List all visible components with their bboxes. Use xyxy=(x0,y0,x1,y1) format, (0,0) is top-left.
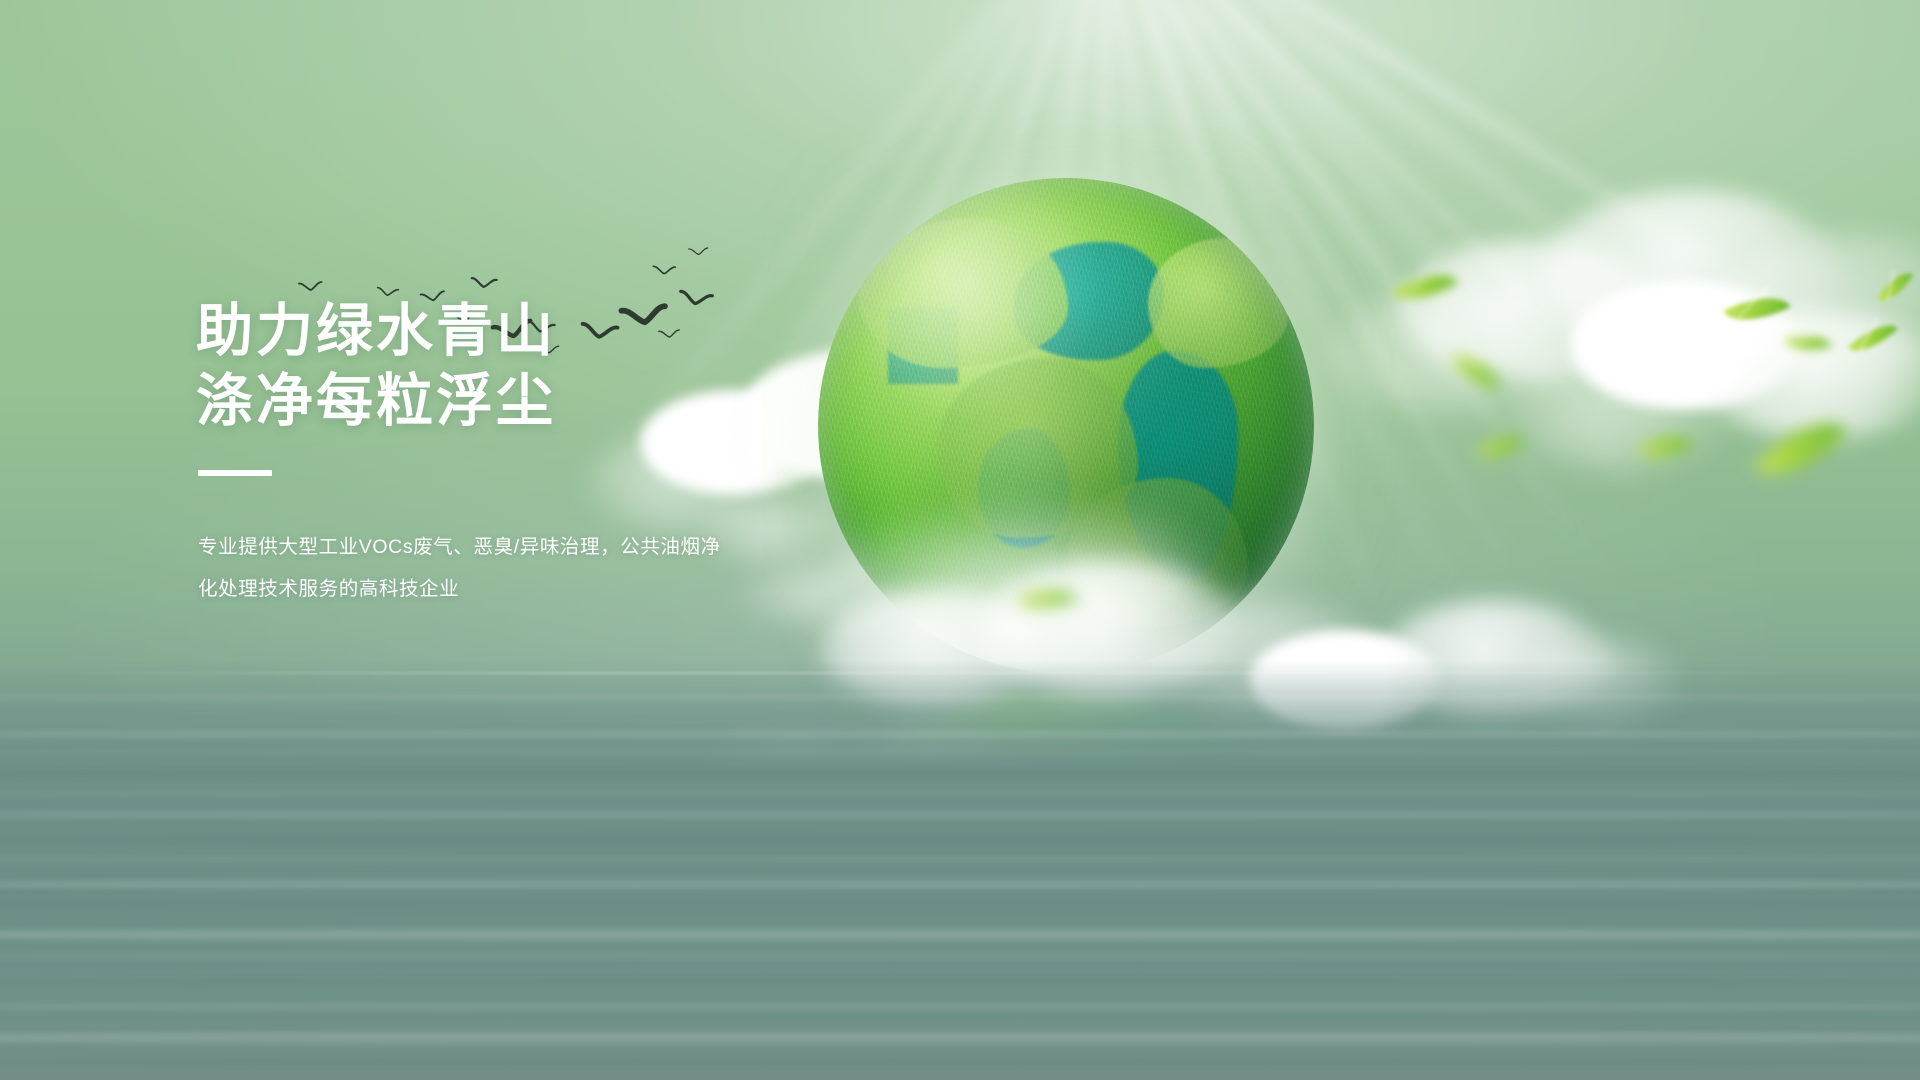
subtitle-line-1: 专业提供大型工业VOCs废气、恶臭/异味治理，公共油烟净 xyxy=(198,526,738,568)
water-ripple xyxy=(0,790,1920,796)
water-ripple xyxy=(0,730,1920,739)
water-horizon-line xyxy=(0,672,1920,674)
water-surface xyxy=(0,660,1920,1080)
bird-icon xyxy=(470,276,499,292)
water-ripple xyxy=(0,976,1920,990)
globe-base-mist xyxy=(818,466,1314,674)
water-ripple xyxy=(0,856,1920,863)
water-ripple xyxy=(0,832,1920,848)
water-ripple xyxy=(0,712,1920,716)
bird-icon xyxy=(652,265,677,279)
water-ripple xyxy=(0,878,1920,891)
hero-subtitle: 专业提供大型工业VOCs废气、恶臭/异味治理，公共油烟净 化处理技术服务的高科技… xyxy=(198,526,738,610)
bird-icon xyxy=(688,246,710,258)
water-ripple xyxy=(0,926,1920,944)
subtitle-line-2: 化处理技术服务的高科技企业 xyxy=(198,568,738,610)
water-ripple xyxy=(0,810,1920,820)
water-ripple xyxy=(0,750,1920,755)
bird-icon xyxy=(298,280,324,295)
water-ripple xyxy=(0,902,1920,911)
water-ripple xyxy=(0,1028,1920,1048)
headline-line-2: 涤净每粒浮尘 xyxy=(196,366,836,436)
water-ripple xyxy=(0,694,1920,700)
headline-divider xyxy=(198,470,272,476)
hero-copy: 助力绿水青山 涤净每粒浮尘 专业提供大型工业VOCs废气、恶臭/异味治理，公共油… xyxy=(196,296,836,610)
headline-line-1: 助力绿水青山 xyxy=(196,296,836,366)
water-ripple xyxy=(0,1002,1920,1012)
water-ripple xyxy=(0,952,1920,960)
water-ripple xyxy=(0,1056,1920,1068)
banner-hero: 助力绿水青山 涤净每粒浮尘 专业提供大型工业VOCs废气、恶臭/异味治理，公共油… xyxy=(0,0,1920,1080)
water-ripple xyxy=(0,768,1920,780)
